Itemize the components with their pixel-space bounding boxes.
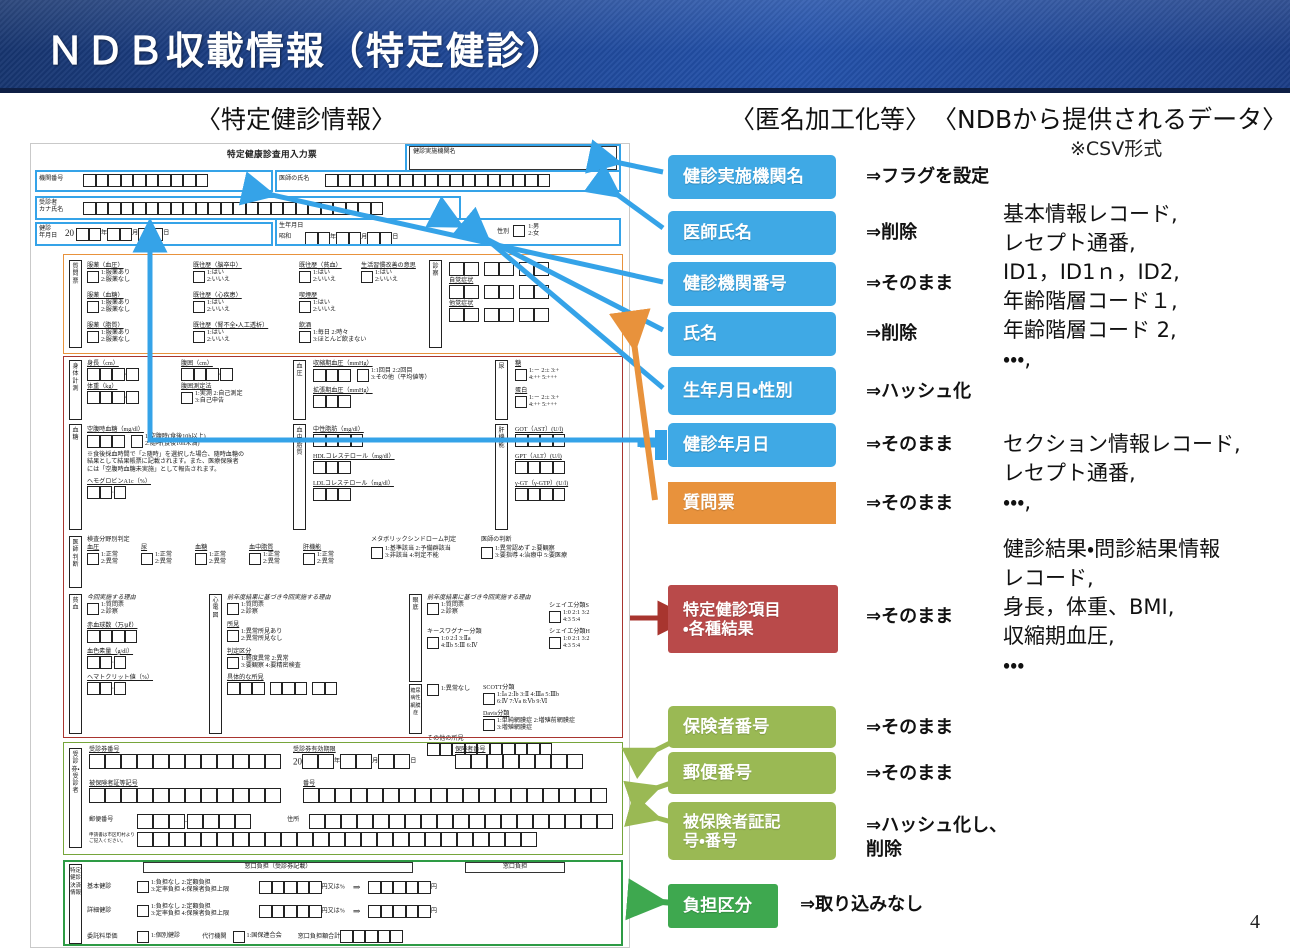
- anemia-fields: 今回実施する理由 1:質問票 2:診察 赤血球数（万/㎕） 血色素量（g/dl）…: [87, 594, 203, 695]
- form-section-urine: 尿: [495, 360, 508, 420]
- form-section-blood-pressure: 血圧: [293, 360, 306, 420]
- mapping-action-5: ⇒ハッシュ化: [866, 380, 971, 404]
- arrow-cap-exam-date: [655, 430, 667, 460]
- questionnaire-item-options: 1:毎日 2:時々 3:ほとんど飲まない: [313, 330, 366, 345]
- mapping-action-8: ⇒そのまま: [866, 605, 953, 629]
- form-section-settlement: 特定健診決済情報: [69, 864, 82, 944]
- judgement-block: 検査分野別判定 血圧1:正常 2:異常尿1:正常 2:異常血糖1:正常 2:異常…: [87, 536, 357, 567]
- mapping-action-12: ⇒取り込みなし: [800, 893, 923, 917]
- form-section-liver: 肝機能: [495, 424, 508, 530]
- postal-note-block: 申請書は市区町村より ご記入ください。: [89, 832, 537, 847]
- mapping-chip-10[interactable]: 郵便番号: [668, 752, 836, 794]
- mapping-chip-label: 質問票: [683, 493, 735, 513]
- blue-outline-institution-name: [405, 144, 621, 172]
- judgement-checkbox[interactable]: [195, 553, 207, 565]
- mapping-chip-12[interactable]: 負担区分: [668, 884, 778, 928]
- mapping-chip-8[interactable]: 特定健診項目 ・各種結果: [668, 585, 838, 653]
- subjective-symptom-label: 自覚症状: [449, 277, 549, 285]
- specific-health-checkup-form: 特定健康診査用入力票 健診実施機関名 機関番号 医師の氏名 受診者 カナ氏名 健…: [30, 143, 630, 948]
- blue-outline-exam-date: [35, 222, 273, 246]
- form-section-ticket-examinee: 受診券・受診者: [69, 748, 82, 848]
- judgement-options: 1:正常 2:異常: [155, 552, 172, 567]
- copay-header-box: 窓口負担（受診券記載）: [143, 862, 413, 873]
- questionnaire-item: 既往歴（腎不全・人工透析）1:はい 2:いいえ: [193, 322, 297, 345]
- questionnaire-item-options: 1:服薬あり 2:服薬なし: [101, 270, 130, 285]
- questionnaire-item: 喫煙歴1:はい 2:いいえ: [299, 292, 403, 315]
- questionnaire-checkbox[interactable]: [193, 331, 205, 343]
- judgement-category: 血圧1:正常 2:異常: [87, 544, 141, 567]
- form-section-anemia: 貧血: [69, 594, 82, 734]
- blue-outline-doctor-name: [275, 170, 621, 192]
- liver-fields: GOT（AST）(U/l) GPT（ALT）(U/l) γ-GT（γ-GTP）(…: [515, 426, 625, 501]
- form-section-ecg: 心電図: [209, 594, 222, 734]
- questionnaire-item: 服薬（血糖）1:服薬あり 2:服薬なし: [87, 292, 191, 315]
- mapping-chip-label: 健診機関番号: [683, 274, 787, 294]
- questionnaire-item-options: 1:はい 2:いいえ: [375, 270, 398, 285]
- metabo-block: メタボリックシンドローム判定 1:基準該当 2:予備群該当 3:非該当 4:判定…: [371, 536, 456, 561]
- questionnaire-item-title: 既往歴（心疾患）: [193, 292, 297, 300]
- blue-outline-examinee-kana: [35, 196, 461, 220]
- blue-outline-birth-sex: [275, 218, 621, 246]
- judgement-checkbox[interactable]: [141, 553, 153, 565]
- judgement-options: 1:正常 2:異常: [101, 552, 118, 567]
- mapping-action-4: ⇒削除: [866, 322, 917, 346]
- mapping-action-1: ⇒フラグを設定: [866, 165, 989, 189]
- form-section-diabetic-retinopathy: 糖尿病性網膜症: [409, 684, 422, 734]
- insurer-number-block: 保険者番号: [455, 746, 583, 769]
- judgement-category-label: 血糖: [195, 544, 249, 552]
- address-block: 住所: [287, 814, 613, 829]
- mapping-chip-11[interactable]: 被保険者証記 号・番号: [668, 802, 836, 860]
- form-section-blood-lipid: 血中脂質: [293, 424, 306, 530]
- mapping-chip-5[interactable]: 生年月日・性別: [668, 367, 836, 415]
- objective-symptom-label: 他覚症状: [449, 300, 549, 308]
- mapping-chip-1[interactable]: 健診実施機関名: [668, 155, 836, 199]
- questionnaire-checkbox[interactable]: [193, 301, 205, 313]
- blood-pressure-fields: 収縮期血圧（mmHg） 1:1回目 2:2回目 3:その他（平均値等） 拡張期血…: [313, 360, 493, 408]
- mapping-action-11: ⇒ハッシュ化し、 削除: [866, 814, 1007, 862]
- waist-fields: 腹囲（cm） . 腹囲測定法 1:実測 2:自己測定 3:自己申告: [181, 360, 291, 406]
- mapping-chip-label: 負担区分: [683, 896, 752, 916]
- mapping-chip-label: 郵便番号: [683, 763, 752, 783]
- questionnaire-item-title: 既往歴（脳卒中）: [193, 262, 297, 270]
- questionnaire-checkbox[interactable]: [87, 271, 99, 283]
- questionnaire-item-options: 1:はい 2:いいえ: [207, 300, 230, 315]
- mapping-action-2: ⇒削除: [866, 221, 917, 245]
- arrow-group-orange: [631, 320, 655, 500]
- questionnaire-checkbox[interactable]: [299, 331, 311, 343]
- ndb-data-block-1: 基本情報レコード, レセプト通番, ID1，ID1ｎ，ID2, 年齢階層コード１…: [1003, 200, 1290, 374]
- mapping-chip-label: 健診年月日: [683, 435, 770, 455]
- mapping-action-9: ⇒そのまま: [866, 716, 953, 740]
- settlement-detail-row: 詳細健診1:負担なし 2:定額負担 3:定率負担 4:保険者負担上限円又は%⇒円: [87, 904, 437, 919]
- mapping-chip-3[interactable]: 健診機関番号: [668, 262, 836, 306]
- questionnaire-checkbox[interactable]: [87, 331, 99, 343]
- questionnaire-item: 既往歴（脳卒中）1:はい 2:いいえ: [193, 262, 297, 285]
- questionnaire-item-title: 喫煙歴: [299, 292, 403, 300]
- judgement-options: 1:正常 2:異常: [263, 552, 280, 567]
- ticket-number-block: 受診券番号: [89, 746, 281, 769]
- doctor-decision-block: 医師の判断 1:異常認めず 2:要観察 3:要指導 4:治療中 5:要医療: [481, 536, 567, 561]
- form-section-body-measure: 身体計測: [69, 360, 82, 420]
- mapping-chip-label: 医師氏名: [683, 223, 752, 243]
- questionnaire-item-title: 服薬（脂質）: [87, 322, 191, 330]
- questionnaire-item: 服薬（血圧）1:服薬あり 2:服薬なし: [87, 262, 191, 285]
- retinopathy-fields: 1:異常なし SCOTT分類 1:Ⅰa 2:Ⅰb 3:Ⅱ 4:Ⅲa 5:Ⅲb 6…: [427, 684, 627, 756]
- judgement-category: 血中脂質1:正常 2:異常: [249, 544, 303, 567]
- questionnaire-item: 服薬（脂質）1:服薬あり 2:服薬なし: [87, 322, 191, 345]
- lipid-fields: 中性脂肪（mg/dl） HDLコレステロール（mg/dl） LDLコレステロール…: [313, 426, 493, 501]
- judgement-category: 尿1:正常 2:異常: [141, 544, 195, 567]
- questionnaire-item-title: 既往歴（腎不全・人工透析）: [193, 322, 297, 330]
- mapping-chip-label: 被保険者証記 号・番号: [683, 812, 781, 850]
- questionnaire-checkbox[interactable]: [193, 271, 205, 283]
- mapping-chip-2[interactable]: 医師氏名: [668, 211, 836, 255]
- judgement-category-label: 尿: [141, 544, 195, 552]
- questionnaire-checkbox[interactable]: [87, 301, 99, 313]
- judgement-category-label: 血圧: [87, 544, 141, 552]
- insured-symbol-block: 被保険者証等記号: [89, 780, 281, 803]
- questionnaire-checkbox[interactable]: [361, 271, 373, 283]
- mapping-chip-6[interactable]: 健診年月日: [668, 423, 836, 467]
- form-section-questionnaire: 質問票: [69, 260, 82, 348]
- insured-number-block: 番号: [303, 780, 607, 803]
- questionnaire-item-options: 1:はい 2:いいえ: [313, 300, 336, 315]
- judgement-checkbox[interactable]: [303, 553, 315, 565]
- column-heading-middle: 〈匿名加工化等〉: [730, 100, 930, 136]
- urine-fields: 糖 1:－ 2:± 3:+ 4:++ 5:+++ 蛋白 1:－ 2:± 3:+ …: [515, 360, 625, 410]
- column-heading-left: 〈特定健診情報〉: [196, 100, 396, 136]
- mapping-chip-7[interactable]: 質問票: [668, 482, 836, 524]
- questionnaire-item-title: 服薬（血圧）: [87, 262, 191, 270]
- questionnaire-item-title: 服薬（血糖）: [87, 292, 191, 300]
- mapping-chip-4[interactable]: 氏名: [668, 312, 836, 356]
- questionnaire-checkbox[interactable]: [299, 301, 311, 313]
- judgement-checkbox[interactable]: [87, 553, 99, 565]
- judgement-category: 血糖1:正常 2:異常: [195, 544, 249, 567]
- form-section-doctor-judgement: 医師判断: [69, 536, 82, 588]
- glucose-fields: 空腹時血糖（mg/dl） 1:空腹時(食後10h以上) 2:随時(食後10h未満…: [87, 426, 287, 499]
- questionnaire-item-options: 1:服薬あり 2:服薬なし: [101, 300, 130, 315]
- fundus-fields: 前年度結果に基づき今回実施する理由 1:質問票 2:診察 シェイエ分類S 1:0…: [427, 594, 627, 651]
- questionnaire-item-options: 1:はい 2:いいえ: [207, 270, 230, 285]
- questionnaire-item-options: 1:はい 2:いいえ: [313, 270, 336, 285]
- mapping-chip-label: 氏名: [683, 324, 718, 344]
- judgement-category-label: 血中脂質: [249, 544, 303, 552]
- form-section-blood-sugar: 血糖: [69, 424, 82, 530]
- questionnaire-item-title: 飲酒: [299, 322, 403, 330]
- mapping-action-7: ⇒そのまま: [866, 492, 953, 516]
- ecg-fields: 前年度結果に基づき今回実施する理由 1:質問票 2:診察 所見 1:異常所見あり…: [227, 594, 402, 695]
- mapping-chip-label: 特定健診項目 ・各種結果: [683, 600, 781, 638]
- judgement-checkbox[interactable]: [249, 553, 261, 565]
- mapping-chip-label: 生年月日・性別: [683, 381, 793, 401]
- ticket-validity-block: 受診券有効期限 20年月日: [293, 746, 416, 769]
- column-heading-right: 〈NDBから提供されるデータ〉: [932, 100, 1287, 136]
- postal-block: 郵便番号-: [89, 814, 251, 829]
- exam-symptom-block: 自覚症状 他覚症状: [449, 262, 549, 322]
- blue-outline-institution-number: [35, 170, 273, 192]
- page-title: ＮＤＢ収載情報（特定健診）: [46, 20, 566, 75]
- mapping-action-10: ⇒そのまま: [866, 762, 953, 786]
- settlement-basic-row: 基本健診1:負担なし 2:定額負担 3:定率負担 4:保険者負担上限円又は%⇒円: [87, 880, 437, 895]
- ndb-data-block-2: セクション情報レコード, レセプト通番, ・・・,: [1003, 430, 1290, 517]
- copay-header2-box: 窓口負担: [465, 862, 565, 873]
- ndb-data-block-3: 健診結果・問診結果情報 レコード, 身長，体重、BMI, 収縮期血圧, ・・・: [1003, 535, 1290, 680]
- judgement-category-label: 肝機能: [303, 544, 357, 552]
- mapping-chip-label: 保険者番号: [683, 717, 770, 737]
- mapping-action-6: ⇒そのまま: [866, 433, 953, 457]
- mapping-action-3: ⇒そのまま: [866, 272, 953, 296]
- settlement-unit-row: 委託料単価1:個別健診代行機関1:国保連合会窓口負担額合計: [87, 930, 403, 943]
- questionnaire-item-options: 1:服薬あり 2:服薬なし: [101, 330, 130, 345]
- judgement-options: 1:正常 2:異常: [209, 552, 226, 567]
- column-subheading-csv: ※CSV形式: [1070, 134, 1162, 161]
- form-section-fundus: 眼底: [409, 594, 422, 682]
- questionnaire-item: 既往歴（心疾患）1:はい 2:いいえ: [193, 292, 297, 315]
- header-bottom-rule: [0, 88, 1290, 93]
- page-number: 4: [1250, 911, 1260, 934]
- mapping-chip-9[interactable]: 保険者番号: [668, 706, 836, 748]
- judgement-options: 1:正常 2:異常: [317, 552, 334, 567]
- mapping-chip-label: 健診実施機関名: [683, 167, 804, 187]
- questionnaire-item: 飲酒1:毎日 2:時々 3:ほとんど飲まない: [299, 322, 403, 345]
- questionnaire-checkbox[interactable]: [299, 271, 311, 283]
- form-title: 特定健康診査用入力票: [227, 148, 317, 160]
- questionnaire-item-options: 1:はい 2:いいえ: [207, 330, 230, 345]
- judgement-category: 肝機能1:正常 2:異常: [303, 544, 357, 567]
